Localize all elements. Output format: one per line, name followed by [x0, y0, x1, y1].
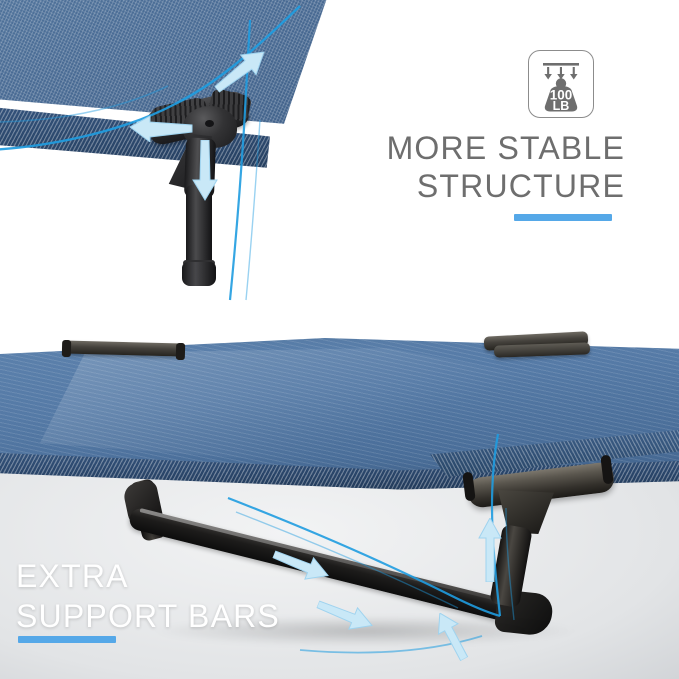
- arrow-leg-up-right-icon: [476, 518, 504, 582]
- bottom-heading-line2: SUPPORT BARS: [16, 596, 416, 636]
- top-heading-underline: [514, 214, 612, 221]
- top-heading-line1: MORE STABLE: [350, 130, 625, 166]
- top-heading: MORE STABLE STRUCTURE: [350, 130, 625, 204]
- bottom-heading-underline: [18, 636, 116, 643]
- accent-curves-top: [0, 0, 360, 330]
- bottom-panel: EXTRA SUPPORT BARS: [0, 330, 679, 679]
- down-arrows-icon: [544, 67, 577, 80]
- arrow-leg-down-icon: [190, 140, 220, 202]
- top-panel: 100 LB MORE STABLE STRUCTURE: [0, 0, 679, 330]
- bottom-heading: EXTRA SUPPORT BARS: [16, 556, 416, 636]
- infographic-stage: 100 LB MORE STABLE STRUCTURE: [0, 0, 679, 679]
- top-heading-line2: STRUCTURE: [350, 168, 625, 204]
- arrow-frame-left-icon: [128, 112, 194, 142]
- weight-capacity-badge: 100 LB: [528, 50, 594, 118]
- bottom-heading-line1: EXTRA: [16, 556, 416, 596]
- crossbar-left-cap-right: [176, 343, 185, 360]
- crossbar-left-cap-left: [62, 340, 71, 357]
- badge-weight-unit: LB: [553, 99, 570, 113]
- badge-graphic: 100 LB: [528, 50, 594, 118]
